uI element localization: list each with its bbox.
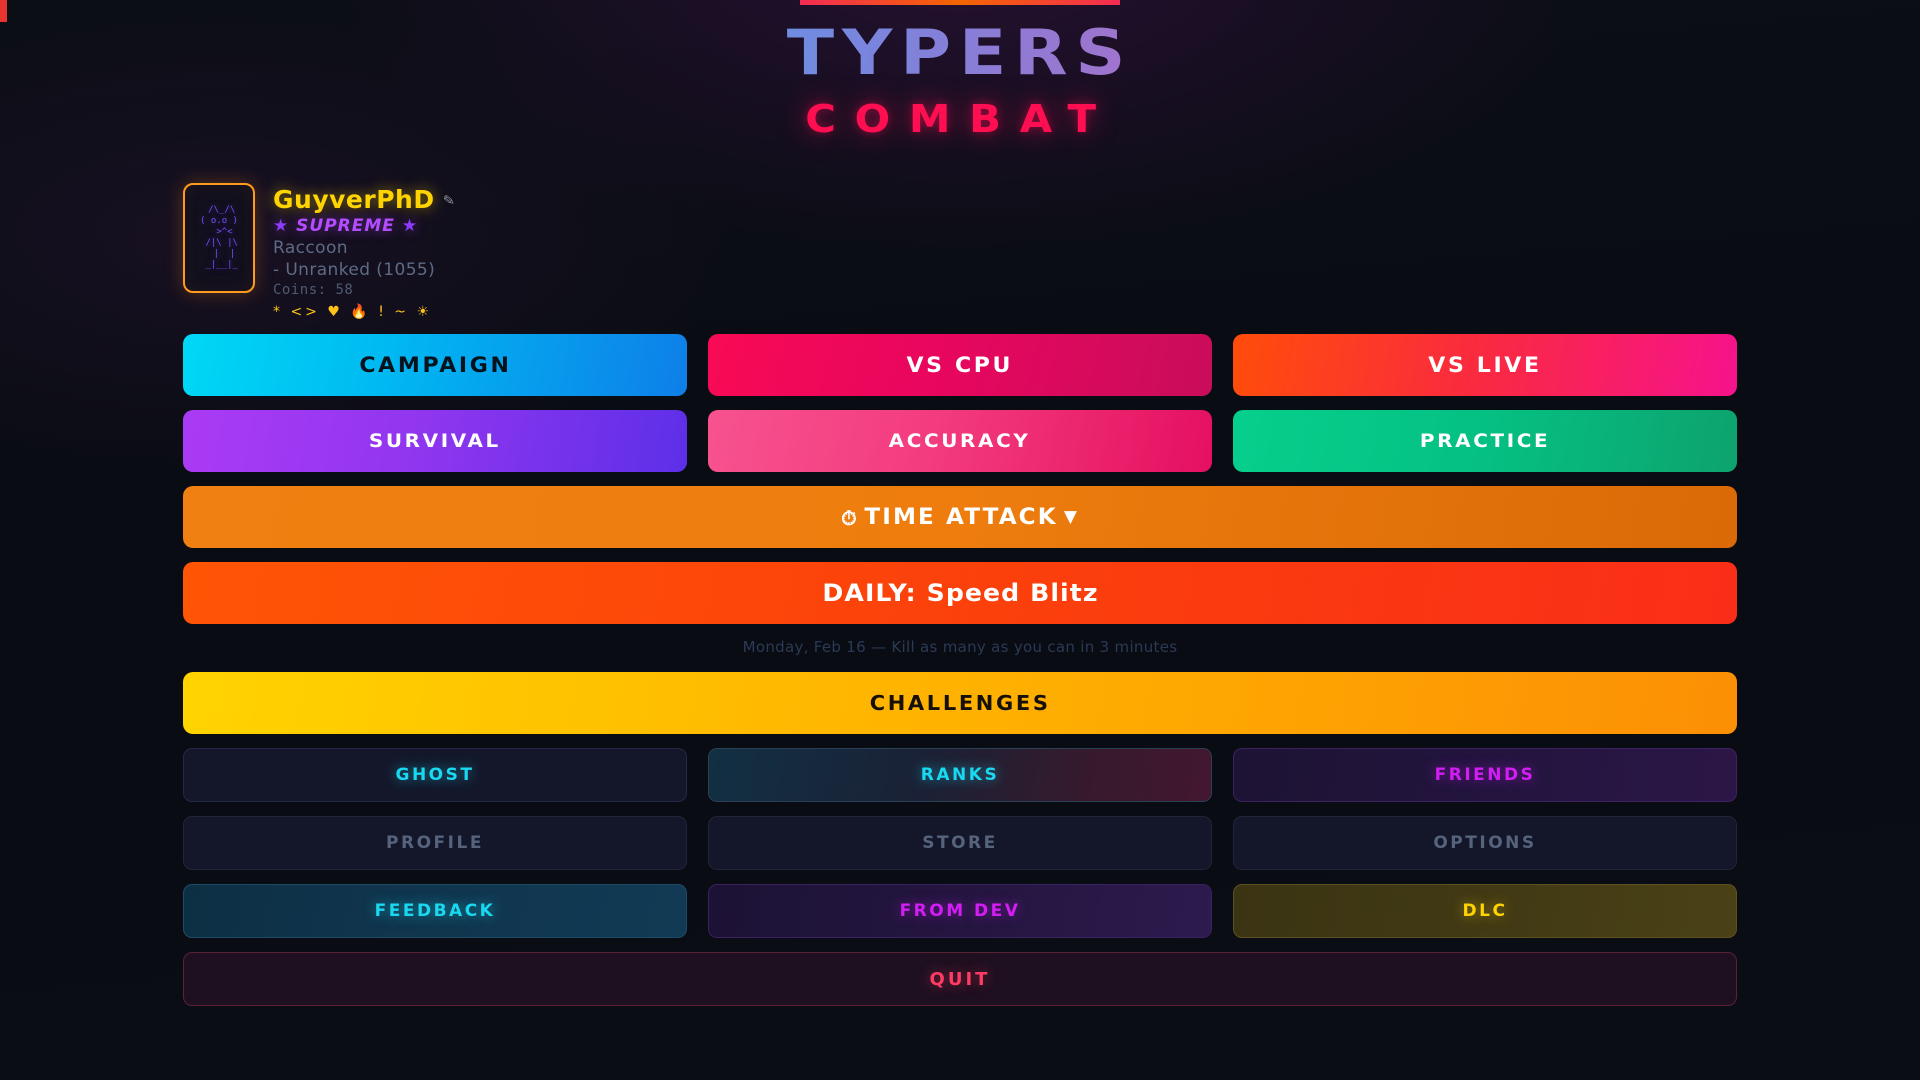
daily-challenge-label: DAILY: Speed Blitz: [822, 579, 1098, 607]
campaign-button-label: CAMPAIGN: [359, 353, 511, 377]
feedback-button-label: FEEDBACK: [375, 901, 496, 921]
badge-row: * <> ♥ 🔥 ! ~ ☀: [273, 304, 454, 320]
game-title-main: TYPERS: [0, 20, 1920, 85]
rank-badge: ★ SUPREME ★: [273, 216, 454, 236]
practice-button[interactable]: PRACTICE: [1233, 410, 1737, 472]
ranks-button[interactable]: RANKS: [708, 748, 1212, 802]
store-button[interactable]: STORE: [708, 816, 1212, 870]
vs-live-button-label: VS LIVE: [1428, 353, 1541, 377]
rank-line: - Unranked (1055): [273, 260, 454, 280]
rank-badge-label: SUPREME: [296, 216, 395, 236]
dlc-button[interactable]: DLC: [1233, 884, 1737, 938]
profile-details: GuyverPhD✎ ★ SUPREME ★ Raccoon - Unranke…: [273, 183, 454, 320]
game-title-block: TYPERS COMBAT: [0, 20, 1920, 141]
accuracy-button[interactable]: ACCURACY: [708, 410, 1212, 472]
secondary-row-3: FEEDBACK FROM DEV DLC: [183, 884, 1737, 938]
daily-challenge-button[interactable]: DAILY: Speed Blitz: [183, 562, 1737, 624]
avatar[interactable]: /\_/\ ( o.o ) >^< /|\ |\ | | _|__|_: [183, 183, 255, 293]
daily-challenge-subtitle: Monday, Feb 16 — Kill as many as you can…: [183, 638, 1737, 656]
profile-button[interactable]: PROFILE: [183, 816, 687, 870]
profile-name-row: GuyverPhD✎: [273, 185, 454, 214]
character-name: Raccoon: [273, 238, 454, 258]
options-button-label: OPTIONS: [1433, 833, 1536, 853]
quit-button[interactable]: QUIT: [183, 952, 1737, 1006]
store-button-label: STORE: [922, 833, 998, 853]
vs-live-button[interactable]: VS LIVE: [1233, 334, 1737, 396]
time-attack-button-label: TIME ATTACK: [864, 505, 1057, 530]
challenges-button[interactable]: CHALLENGES: [183, 672, 1737, 734]
practice-button-label: PRACTICE: [1420, 430, 1550, 452]
pencil-icon[interactable]: ✎: [442, 192, 455, 209]
from-dev-button[interactable]: FROM DEV: [708, 884, 1212, 938]
primary-row-1: CAMPAIGN VS CPU VS LIVE: [183, 334, 1737, 396]
profile-button-label: PROFILE: [386, 833, 484, 853]
friends-button-label: FRIENDS: [1435, 765, 1536, 785]
survival-button[interactable]: SURVIVAL: [183, 410, 687, 472]
dlc-button-label: DLC: [1463, 901, 1508, 921]
coins-line: Coins: 58: [273, 282, 454, 298]
vs-cpu-button[interactable]: VS CPU: [708, 334, 1212, 396]
secondary-row-2: PROFILE STORE OPTIONS: [183, 816, 1737, 870]
accuracy-button-label: ACCURACY: [889, 430, 1031, 452]
feedback-button[interactable]: FEEDBACK: [183, 884, 687, 938]
challenges-row: CHALLENGES: [183, 672, 1737, 734]
daily-row: DAILY: Speed Blitz: [183, 562, 1737, 624]
star-icon-right: ★: [402, 216, 418, 236]
quit-button-label: QUIT: [930, 969, 991, 990]
campaign-button[interactable]: CAMPAIGN: [183, 334, 687, 396]
chevron-down-icon[interactable]: ▼: [1064, 507, 1079, 527]
top-accent-bar: [800, 0, 1120, 5]
from-dev-button-label: FROM DEV: [900, 901, 1021, 921]
friends-button[interactable]: FRIENDS: [1233, 748, 1737, 802]
secondary-row-1: GHOST RANKS FRIENDS: [183, 748, 1737, 802]
player-profile: /\_/\ ( o.o ) >^< /|\ |\ | | _|__|_ Guyv…: [183, 183, 454, 320]
ghost-button-label: GHOST: [396, 765, 475, 785]
challenges-button-label: CHALLENGES: [870, 691, 1051, 715]
corner-accent-marker: [0, 0, 7, 22]
vs-cpu-button-label: VS CPU: [907, 353, 1014, 377]
ranks-button-label: RANKS: [921, 765, 999, 785]
primary-row-2: SURVIVAL ACCURACY PRACTICE: [183, 410, 1737, 472]
main-menu: CAMPAIGN VS CPU VS LIVE SURVIVAL ACCURAC…: [183, 334, 1737, 1020]
raccoon-ascii-avatar-icon: /\_/\ ( o.o ) >^< /|\ |\ | | _|__|_: [200, 205, 238, 271]
player-name: GuyverPhD: [273, 185, 435, 214]
star-icon-left: ★: [273, 216, 289, 236]
ghost-button[interactable]: GHOST: [183, 748, 687, 802]
game-main-menu-screen: TYPERS COMBAT /\_/\ ( o.o ) >^< /|\ |\ |…: [0, 0, 1920, 1080]
stopwatch-icon: ⏱: [841, 506, 859, 530]
time-attack-button[interactable]: ⏱ TIME ATTACK ▼: [183, 486, 1737, 548]
options-button[interactable]: OPTIONS: [1233, 816, 1737, 870]
time-attack-row: ⏱ TIME ATTACK ▼: [183, 486, 1737, 548]
survival-button-label: SURVIVAL: [369, 430, 501, 452]
game-title-sub: COMBAT: [0, 97, 1920, 141]
quit-row: QUIT: [183, 952, 1737, 1006]
